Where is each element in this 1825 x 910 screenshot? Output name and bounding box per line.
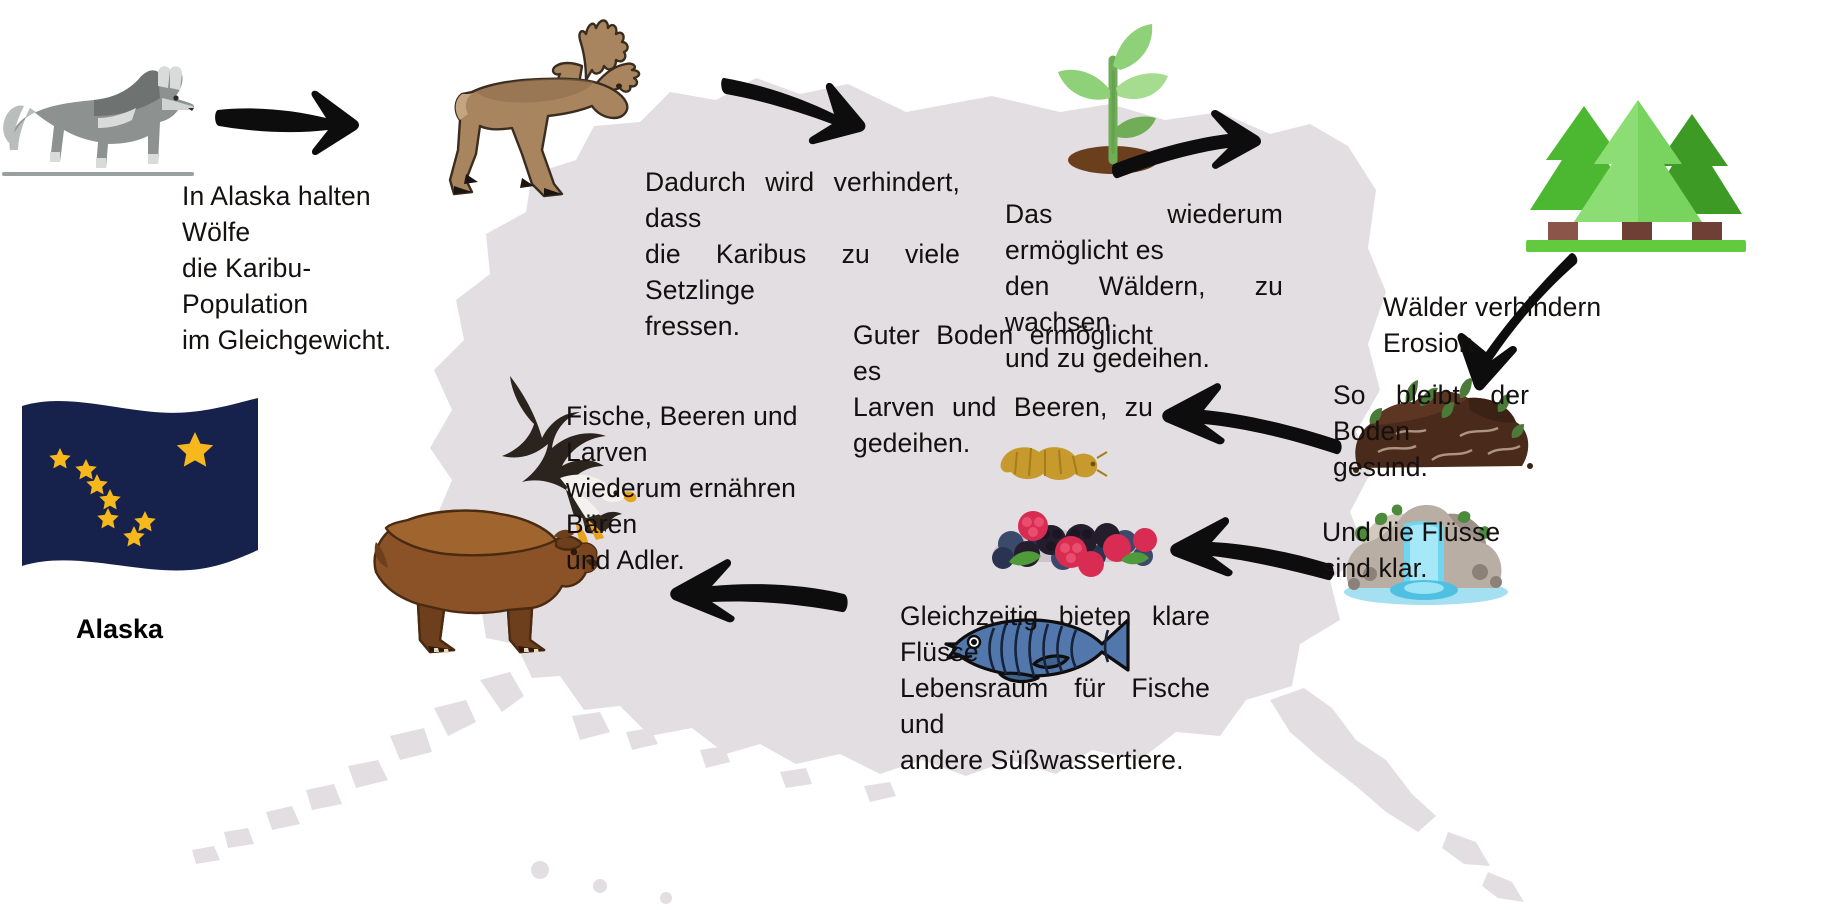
region-label: Alaska xyxy=(76,614,163,645)
caption-fish: Gleichzeitig bieten klare Flüsse Lebensr… xyxy=(900,598,1210,778)
caption-wolf: In Alaska halten Wölfe die Karibu-Popula… xyxy=(182,178,414,358)
caption-predators: Fische, Beeren und Larven wiederum ernäh… xyxy=(566,398,828,578)
caption-river: Und die Flüsse sind klar. xyxy=(1322,514,1522,586)
arrow-seedling-to-forest xyxy=(1108,116,1278,206)
wolf-illustration xyxy=(2,58,202,188)
diagram-canvas: Alaska In Alaska halten Wölfe die Karibu… xyxy=(0,0,1825,910)
arrow-wolf-to-caribou xyxy=(214,84,374,164)
caribou-illustration xyxy=(436,8,656,204)
caption-soil: So bleibt der Boden gesund. xyxy=(1333,377,1529,485)
arrow-caribou-to-seedling xyxy=(718,66,888,166)
alaska-state-flag xyxy=(14,398,266,593)
arrow-river-to-fish xyxy=(1156,516,1336,596)
caption-berries: Guter Boden ermöglicht es Larven und Bee… xyxy=(853,317,1153,461)
pine-trees-illustration xyxy=(1526,94,1746,254)
caption-forest: Wälder verhindern Erosion. xyxy=(1383,289,1633,361)
